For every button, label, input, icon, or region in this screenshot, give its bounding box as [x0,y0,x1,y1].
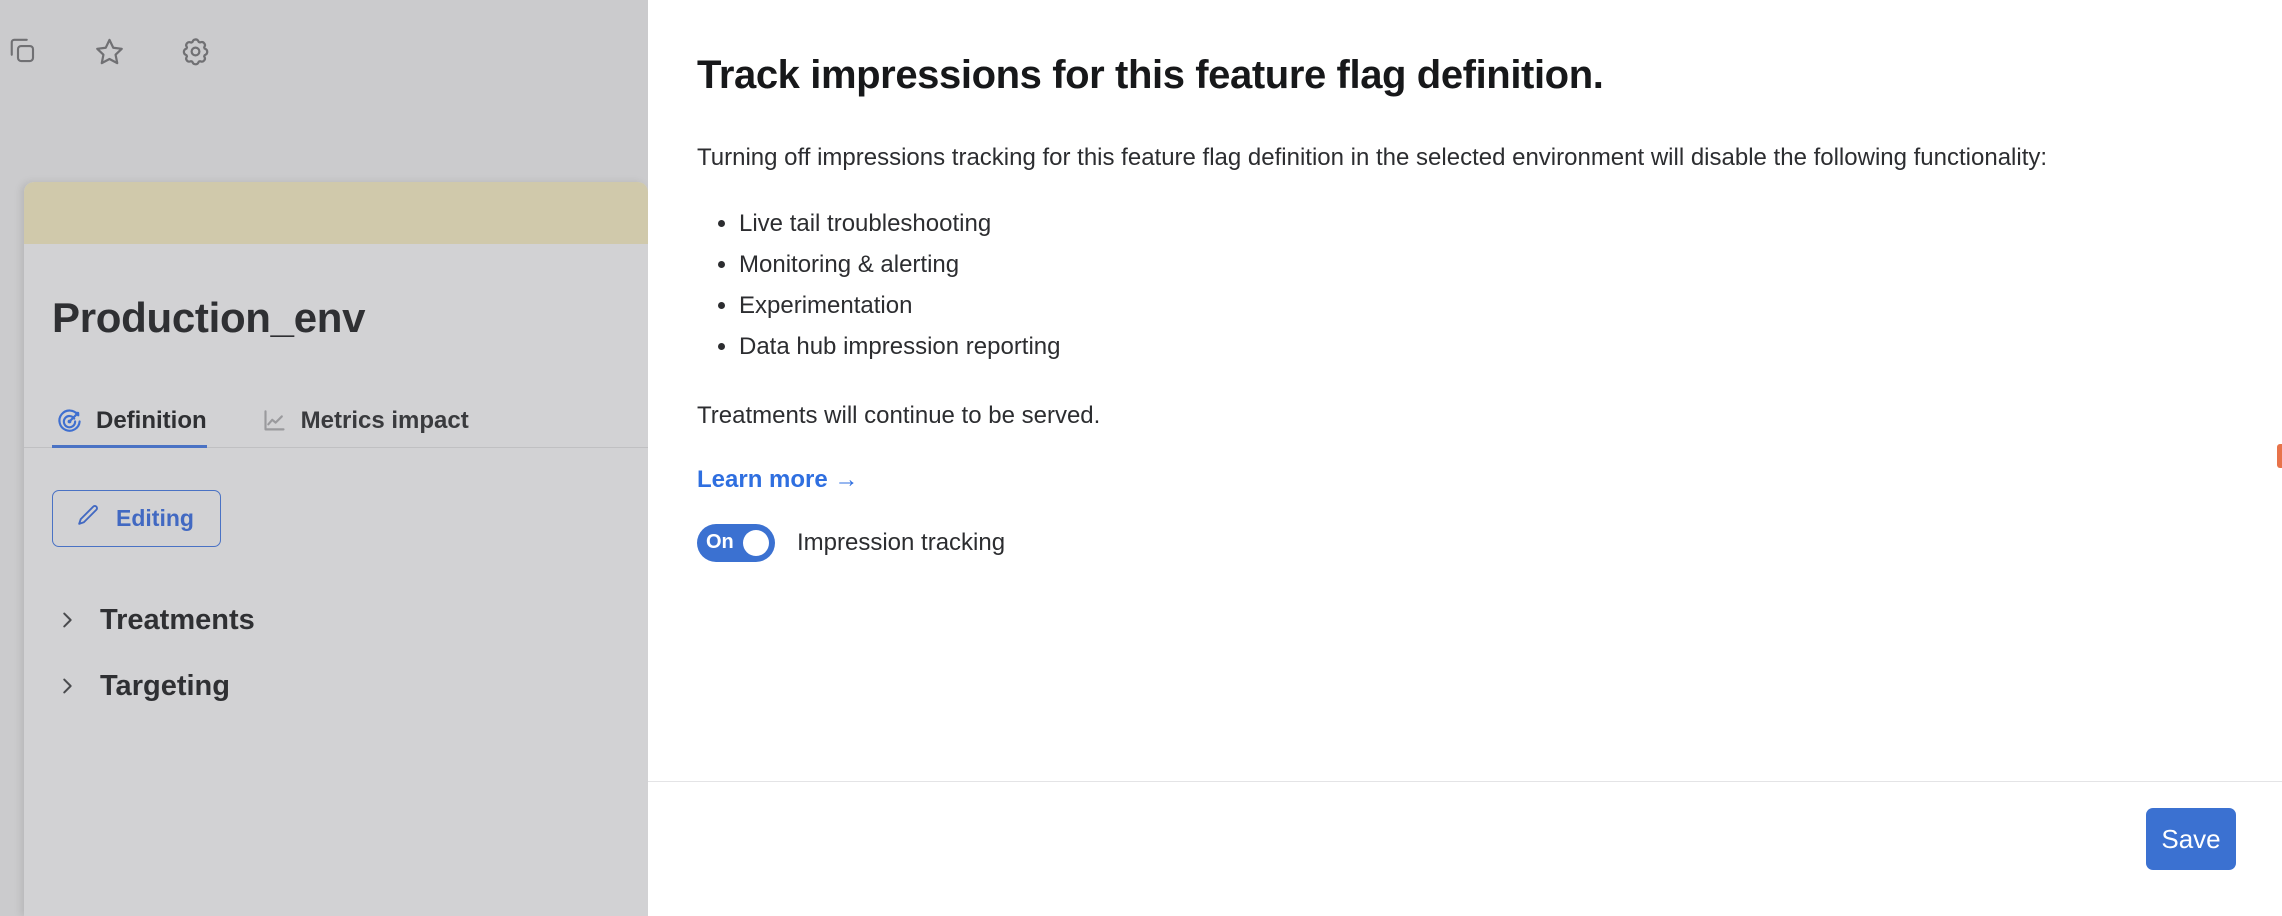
star-icon[interactable] [86,28,132,74]
tab-definition[interactable]: Definition [52,407,229,447]
editing-button[interactable]: Editing [52,490,221,547]
environment-card: Production_env Definition [24,182,648,916]
impression-tracking-row: On Impression tracking [697,524,2226,562]
app-screen: Production_env Definition [0,0,2282,916]
impression-tracking-label: Impression tracking [797,529,1005,557]
list-item: Data hub impression reporting [739,327,2226,368]
page-title: Track impressions for this feature flag … [697,52,2226,98]
panel-body: Track impressions for this feature flag … [648,0,2282,781]
arrow-right-icon: → [834,466,858,493]
edge-tab-indicator[interactable] [2277,444,2282,468]
treatments-note: Treatments will continue to be served. [697,402,2226,430]
line-chart-icon [261,408,288,435]
environment-tabs: Definition Metrics impact [24,394,648,448]
impressions-panel: Track impressions for this feature flag … [648,0,2282,916]
editing-button-label: Editing [116,505,194,532]
section-treatments-label: Treatments [100,604,255,637]
sidebar-sections: Treatments Targeting [24,587,648,719]
duplicate-icon[interactable] [0,28,46,74]
list-item: Live tail troubleshooting [739,204,2226,245]
learn-more-link[interactable]: Learn more → [697,466,858,494]
list-item: Monitoring & alerting [739,245,2226,286]
tab-metrics-impact-label: Metrics impact [301,407,469,435]
target-icon [56,408,83,435]
toggle-state-label: On [706,531,734,554]
section-targeting-label: Targeting [100,670,230,703]
save-button[interactable]: Save [2146,808,2236,870]
tab-definition-label: Definition [96,407,207,435]
tab-metrics-impact[interactable]: Metrics impact [257,407,491,447]
pencil-icon [75,503,100,534]
gear-icon[interactable] [172,28,218,74]
chevron-right-icon [56,675,78,697]
chevron-right-icon [56,609,78,631]
page-backdrop: Production_env Definition [0,0,648,916]
panel-footer: Save [648,781,2282,916]
toggle-knob [743,530,769,556]
section-treatments[interactable]: Treatments [56,587,648,653]
disabled-functionality-list: Live tail troubleshooting Monitoring & a… [697,204,2226,367]
list-item: Experimentation [739,286,2226,327]
impression-tracking-toggle[interactable]: On [697,524,775,562]
toolbar-icons [0,28,218,74]
environment-banner [24,182,648,244]
environment-title: Production_env [52,294,648,342]
panel-description: Turning off impressions tracking for thi… [697,140,2226,176]
learn-more-label: Learn more [697,466,828,493]
section-targeting[interactable]: Targeting [56,653,648,719]
